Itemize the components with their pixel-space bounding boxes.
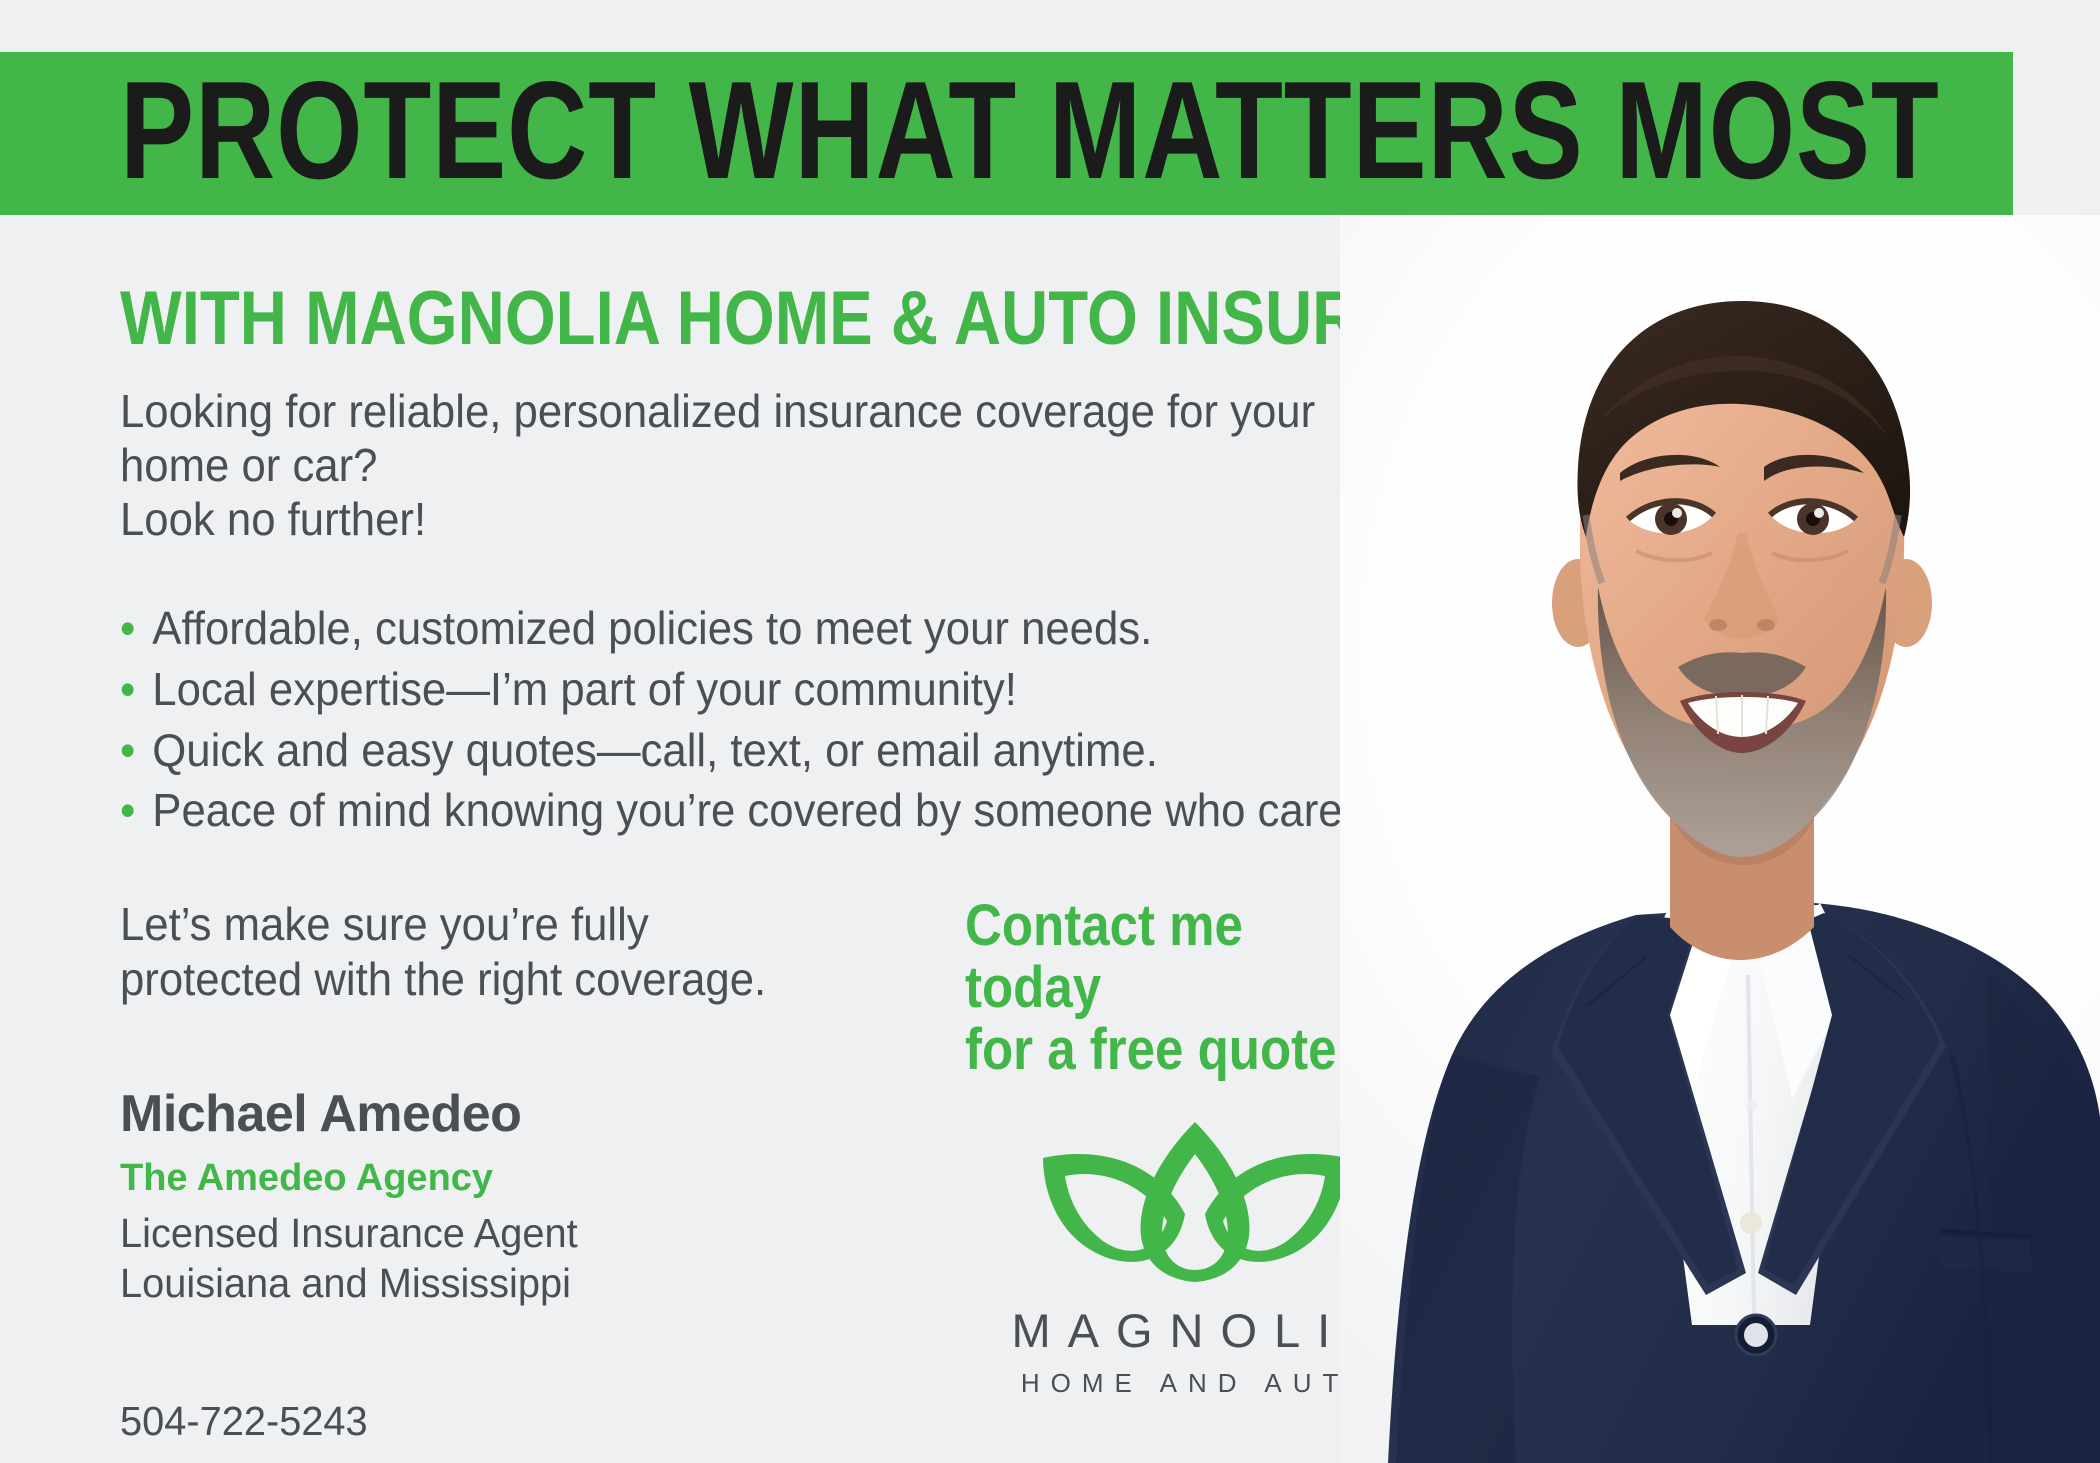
insurance-flyer: PROTECT WHAT MATTERS MOST WITH MAGNOLIA …	[0, 0, 2100, 1463]
face	[1552, 301, 1932, 857]
agent-portrait-illustration	[1340, 215, 2100, 1463]
list-item-label: Affordable, customized policies to meet …	[152, 602, 1152, 654]
bullet-icon: •	[120, 598, 135, 659]
list-item: • Local expertise—I’m part of your commu…	[120, 659, 1384, 720]
phone-number[interactable]: 504-722-5243	[120, 1396, 1410, 1447]
list-item: • Peace of mind knowing you’re covered b…	[120, 780, 1384, 841]
magnolia-lotus-icon	[1035, 1120, 1355, 1285]
list-item-label: Local expertise—I’m part of your communi…	[152, 663, 1017, 715]
bullet-icon: •	[120, 780, 135, 841]
bullet-icon: •	[120, 720, 135, 781]
page-title: PROTECT WHAT MATTERS MOST	[120, 61, 1940, 200]
bullet-icon: •	[120, 659, 135, 720]
benefits-list: • Affordable, customized policies to mee…	[120, 598, 1450, 841]
list-item: • Affordable, customized policies to mee…	[120, 598, 1384, 659]
list-item: • Quick and easy quotes—call, text, or e…	[120, 720, 1384, 781]
list-item-label: Quick and easy quotes—call, text, or ema…	[152, 724, 1158, 776]
intro-paragraph: Looking for reliable, personalized insur…	[120, 384, 1384, 547]
subheadline: WITH MAGNOLIA HOME & AUTO INSURANCE	[120, 280, 1264, 358]
list-item-label: Peace of mind knowing you’re covered by …	[152, 784, 1376, 836]
cta-text: Contact me today for a free quote!	[965, 895, 1379, 1081]
headline-banner: PROTECT WHAT MATTERS MOST	[0, 52, 2013, 215]
agent-photo	[1340, 215, 2100, 1463]
